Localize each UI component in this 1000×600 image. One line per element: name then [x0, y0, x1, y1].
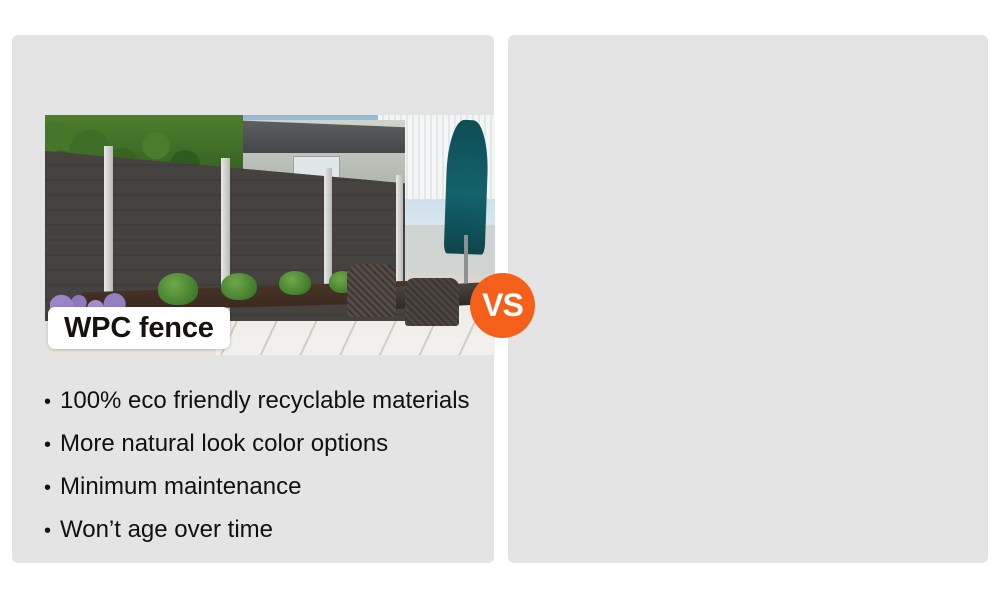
right-panel: PVC fence Traditional wood [508, 35, 988, 563]
list-item-label: More natural look color options [60, 423, 388, 465]
list-item: • Won’t age over time [44, 509, 494, 552]
umbrella-pole [464, 235, 468, 283]
left-panel: WPC fence • 100% eco friendly recyclable… [12, 35, 494, 563]
list-item-label: 100% eco friendly recyclable materials [60, 380, 470, 422]
bullet-marker-icon: • [44, 424, 60, 466]
bullet-marker-icon: • [44, 510, 60, 552]
list-item: • 100% eco friendly recyclable materials [44, 380, 494, 423]
shrub [221, 273, 257, 299]
bullet-marker-icon: • [44, 381, 60, 423]
vs-badge: VS [470, 273, 535, 338]
shrub [279, 271, 311, 295]
list-item-label: Minimum maintenance [60, 466, 301, 508]
list-item: • Minimum maintenance [44, 466, 494, 509]
patio-chair [405, 278, 459, 326]
patio-chair [347, 264, 397, 317]
wpc-benefits-list: • 100% eco friendly recyclable materials… [44, 380, 494, 552]
fence-post [396, 175, 403, 283]
list-item: • More natural look color options [44, 423, 494, 466]
list-item-label: Won’t age over time [60, 509, 273, 551]
comparison-graphic: WPC fence • 100% eco friendly recyclable… [0, 0, 1000, 600]
shrub [158, 273, 199, 304]
wpc-fence-caption: WPC fence [48, 307, 230, 349]
bullet-marker-icon: • [44, 467, 60, 509]
